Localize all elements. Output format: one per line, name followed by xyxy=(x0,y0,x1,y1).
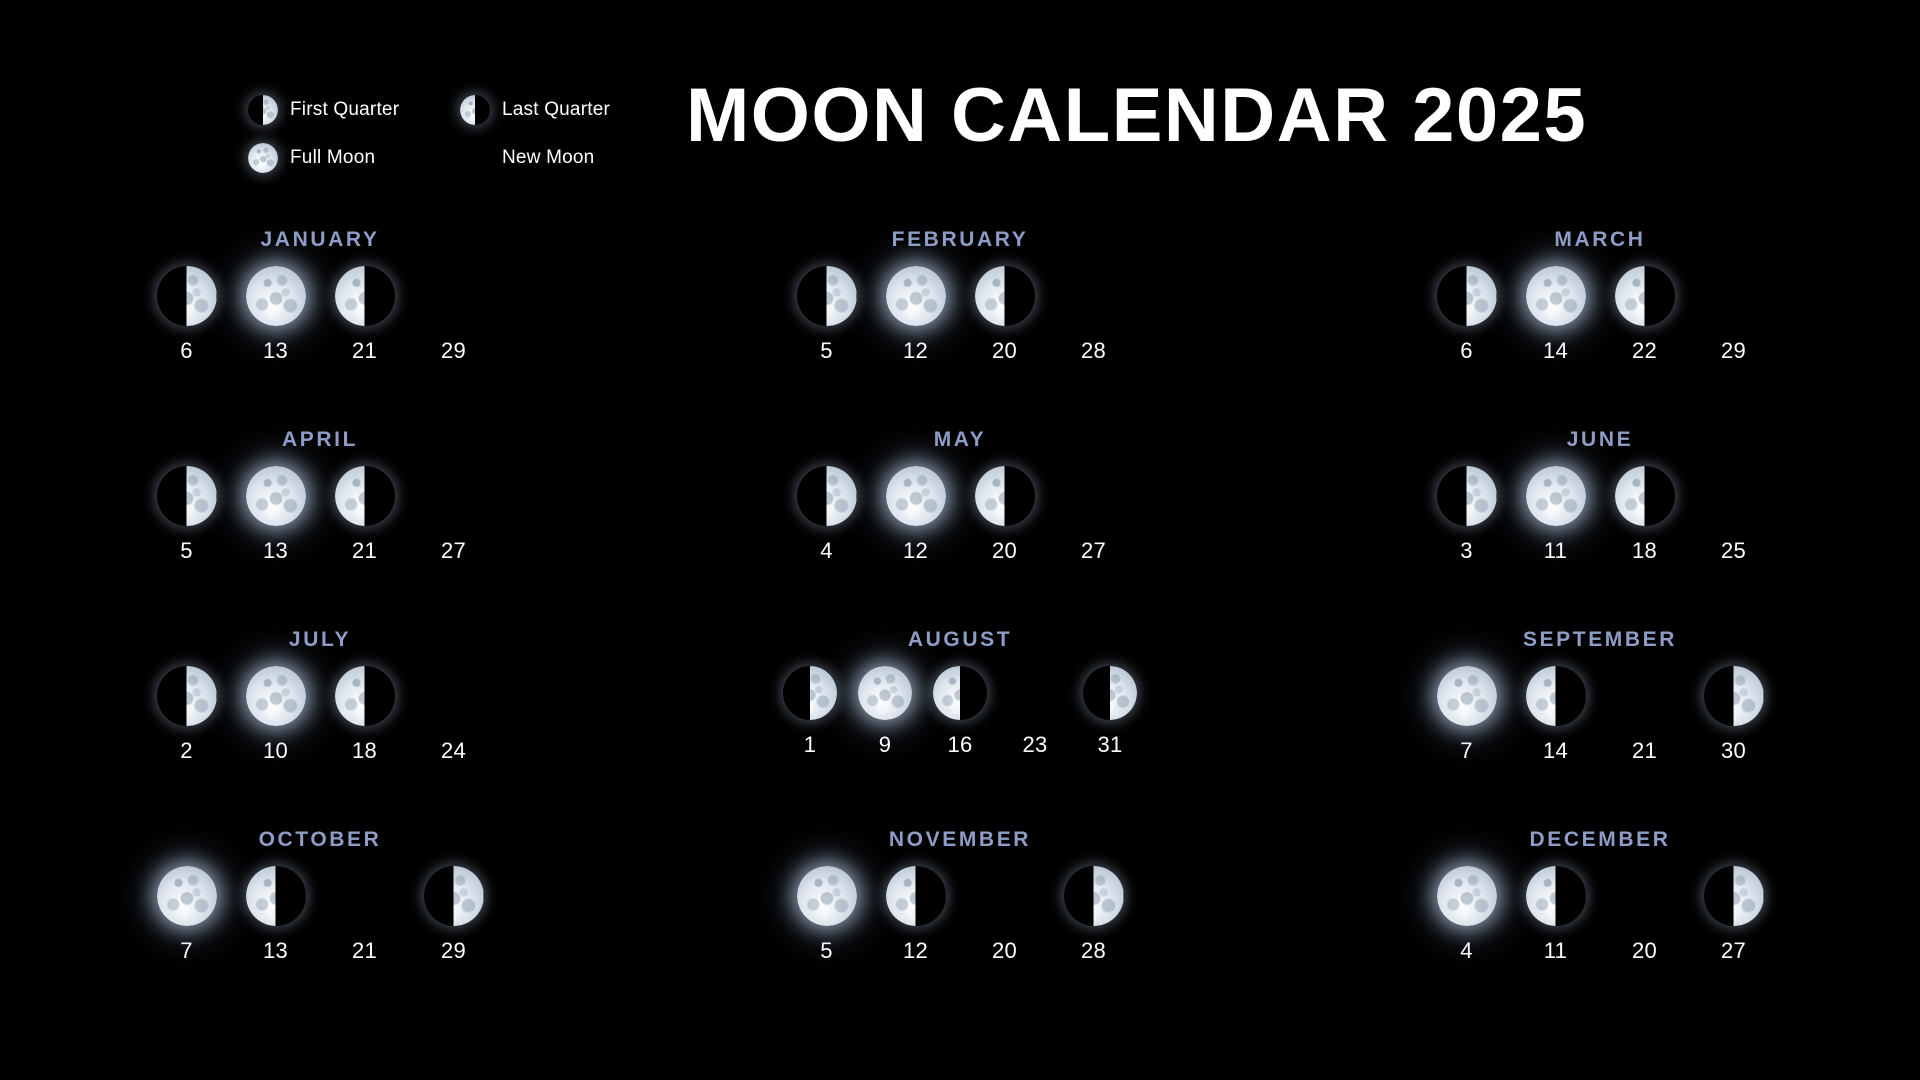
phase-entry[interactable]: 7 xyxy=(1437,666,1497,764)
legend-item-first-quarter: First Quarter xyxy=(248,95,448,125)
phase-row: 5122028 xyxy=(797,266,1124,364)
phase-legend: First QuarterLast QuarterFull MoonNew Mo… xyxy=(248,88,660,180)
full-moon-icon xyxy=(886,466,946,526)
month-block-june: JUNE3111825 xyxy=(1280,420,1920,620)
phase-entry[interactable]: 16 xyxy=(933,666,987,758)
phase-date: 29 xyxy=(441,938,466,964)
phase-entry[interactable]: 23 xyxy=(1008,666,1062,758)
moon-calendar-page: First QuarterLast QuarterFull MoonNew Mo… xyxy=(0,0,1920,1080)
first-quarter-moon-icon xyxy=(424,866,484,926)
phase-entry[interactable]: 14 xyxy=(1526,666,1586,764)
last-quarter-moon-icon xyxy=(1526,866,1586,926)
phase-date: 12 xyxy=(903,338,928,364)
phase-date: 13 xyxy=(263,338,288,364)
phase-date: 24 xyxy=(441,738,466,764)
month-block-october: OCTOBER7132129 xyxy=(0,820,640,1020)
phase-entry[interactable]: 12 xyxy=(886,266,946,364)
month-label: NOVEMBER xyxy=(889,828,1031,852)
phase-entry[interactable]: 20 xyxy=(975,466,1035,564)
phase-entry[interactable]: 12 xyxy=(886,466,946,564)
full-moon-icon xyxy=(246,266,306,326)
new-moon-icon xyxy=(424,266,484,326)
page-title: MOON CALENDAR 2025 xyxy=(686,78,1587,154)
last-quarter-moon-icon xyxy=(1615,266,1675,326)
phase-entry[interactable]: 1 xyxy=(783,666,837,758)
phase-date: 23 xyxy=(1022,732,1047,758)
phase-row: 6142229 xyxy=(1437,266,1764,364)
month-label: JUNE xyxy=(1567,428,1633,452)
phase-row: 5122028 xyxy=(797,866,1124,964)
phase-date: 20 xyxy=(992,338,1017,364)
phase-date: 11 xyxy=(1544,938,1567,964)
phase-entry[interactable]: 20 xyxy=(1615,866,1675,964)
new-moon-icon xyxy=(975,866,1035,926)
phase-date: 11 xyxy=(1544,538,1567,564)
phase-entry[interactable]: 13 xyxy=(246,866,306,964)
phase-row: 19162331 xyxy=(783,666,1137,758)
phase-date: 13 xyxy=(263,538,288,564)
full-moon-icon xyxy=(858,666,912,720)
first-quarter-moon-icon xyxy=(157,266,217,326)
phase-date: 5 xyxy=(180,538,193,564)
phase-date: 22 xyxy=(1632,338,1657,364)
phase-date: 4 xyxy=(1460,938,1473,964)
phase-date: 12 xyxy=(903,938,928,964)
first-quarter-moon-icon xyxy=(157,666,217,726)
phase-entry[interactable]: 24 xyxy=(424,666,484,764)
phase-entry[interactable]: 21 xyxy=(335,866,395,964)
phase-entry[interactable]: 28 xyxy=(1064,266,1124,364)
phase-date: 10 xyxy=(263,738,288,764)
legend-item-new: New Moon xyxy=(460,143,660,173)
phase-entry[interactable]: 31 xyxy=(1083,666,1137,758)
month-label: DECEMBER xyxy=(1530,828,1671,852)
phase-row: 3111825 xyxy=(1437,466,1764,564)
phase-entry[interactable]: 4 xyxy=(1437,866,1497,964)
last-quarter-moon-icon xyxy=(335,266,395,326)
new-moon-icon xyxy=(424,666,484,726)
phase-entry[interactable]: 7 xyxy=(157,866,217,964)
new-moon-icon xyxy=(1704,266,1764,326)
full-moon-icon xyxy=(246,466,306,526)
full-moon-icon xyxy=(246,666,306,726)
month-block-january: JANUARY6132129 xyxy=(0,220,640,420)
phase-entry[interactable]: 5 xyxy=(157,466,217,564)
month-label: JANUARY xyxy=(261,228,380,252)
first-quarter-moon-icon xyxy=(797,266,857,326)
legend-item-label: New Moon xyxy=(502,147,594,169)
phase-entry[interactable]: 27 xyxy=(1064,466,1124,564)
phase-entry[interactable]: 25 xyxy=(1704,466,1764,564)
phase-entry[interactable]: 29 xyxy=(1704,266,1764,364)
phase-entry[interactable]: 11 xyxy=(1526,866,1586,964)
phase-entry[interactable]: 9 xyxy=(858,666,912,758)
phase-date: 20 xyxy=(1632,938,1657,964)
month-block-april: APRIL5132127 xyxy=(0,420,640,620)
phase-date: 20 xyxy=(992,938,1017,964)
phase-date: 3 xyxy=(1460,538,1473,564)
phase-date: 20 xyxy=(992,538,1017,564)
phase-date: 27 xyxy=(1721,938,1746,964)
phase-date: 21 xyxy=(352,938,377,964)
phase-entry[interactable]: 10 xyxy=(246,666,306,764)
phase-row: 6132129 xyxy=(157,266,484,364)
full-moon-icon xyxy=(1437,666,1497,726)
new-moon-icon xyxy=(424,466,484,526)
new-moon-icon xyxy=(1615,866,1675,926)
phase-entry[interactable]: 21 xyxy=(335,266,395,364)
phase-entry[interactable]: 20 xyxy=(975,266,1035,364)
phase-date: 13 xyxy=(263,938,288,964)
phase-entry[interactable]: 13 xyxy=(246,466,306,564)
phase-entry[interactable]: 12 xyxy=(886,866,946,964)
last-quarter-moon-icon xyxy=(1615,466,1675,526)
month-label: FEBRUARY xyxy=(892,228,1029,252)
first-quarter-moon-icon xyxy=(797,466,857,526)
phase-entry[interactable]: 28 xyxy=(1064,866,1124,964)
phase-date: 29 xyxy=(441,338,466,364)
phase-entry[interactable]: 29 xyxy=(424,266,484,364)
first-quarter-moon-icon xyxy=(1437,466,1497,526)
phase-entry[interactable]: 5 xyxy=(797,866,857,964)
phase-entry[interactable]: 6 xyxy=(157,266,217,364)
new-moon-icon xyxy=(1615,666,1675,726)
phase-entry[interactable]: 30 xyxy=(1704,666,1764,764)
full-moon-icon xyxy=(248,143,278,173)
month-label: AUGUST xyxy=(908,628,1012,652)
first-quarter-moon-icon xyxy=(1704,866,1764,926)
new-moon-icon xyxy=(1064,466,1124,526)
phase-date: 27 xyxy=(1081,538,1106,564)
month-block-march: MARCH6142229 xyxy=(1280,220,1920,420)
full-moon-icon xyxy=(1526,266,1586,326)
month-label: MARCH xyxy=(1554,228,1645,252)
month-block-july: JULY2101824 xyxy=(0,620,640,820)
phase-date: 6 xyxy=(180,338,193,364)
last-quarter-moon-icon xyxy=(1526,666,1586,726)
full-moon-icon xyxy=(1526,466,1586,526)
phase-entry[interactable]: 29 xyxy=(424,866,484,964)
first-quarter-moon-icon xyxy=(248,95,278,125)
month-block-december: DECEMBER4112027 xyxy=(1280,820,1920,1020)
last-quarter-moon-icon xyxy=(246,866,306,926)
phase-entry[interactable]: 11 xyxy=(1526,466,1586,564)
month-label: APRIL xyxy=(282,428,358,452)
phase-entry[interactable]: 27 xyxy=(1704,866,1764,964)
first-quarter-moon-icon xyxy=(1064,866,1124,926)
month-block-august: AUGUST19162331 xyxy=(640,620,1280,820)
phase-entry[interactable]: 18 xyxy=(1615,466,1675,564)
phase-entry[interactable]: 3 xyxy=(1437,466,1497,564)
last-quarter-moon-icon xyxy=(975,466,1035,526)
legend-item-full: Full Moon xyxy=(248,143,448,173)
phase-entry[interactable]: 27 xyxy=(424,466,484,564)
phase-date: 16 xyxy=(947,732,972,758)
phase-date: 21 xyxy=(1632,738,1657,764)
phase-entry[interactable]: 13 xyxy=(246,266,306,364)
month-block-february: FEBRUARY5122028 xyxy=(640,220,1280,420)
new-moon-icon xyxy=(1064,266,1124,326)
legend-item-label: Last Quarter xyxy=(502,99,610,121)
phase-date: 14 xyxy=(1543,738,1568,764)
phase-entry[interactable]: 18 xyxy=(335,666,395,764)
phase-date: 21 xyxy=(352,338,377,364)
phase-date: 12 xyxy=(903,538,928,564)
new-moon-icon xyxy=(460,143,490,173)
first-quarter-moon-icon xyxy=(1704,666,1764,726)
new-moon-icon xyxy=(1704,466,1764,526)
phase-entry[interactable]: 21 xyxy=(1615,666,1675,764)
legend-item-label: Full Moon xyxy=(290,147,375,169)
first-quarter-moon-icon xyxy=(783,666,837,720)
full-moon-icon xyxy=(157,866,217,926)
phase-date: 7 xyxy=(180,938,193,964)
first-quarter-moon-icon xyxy=(157,466,217,526)
phase-date: 1 xyxy=(804,732,817,758)
phase-date: 28 xyxy=(1081,938,1106,964)
phase-entry[interactable]: 4 xyxy=(797,466,857,564)
phase-date: 9 xyxy=(879,732,892,758)
month-block-november: NOVEMBER5122028 xyxy=(640,820,1280,1020)
phase-entry[interactable]: 20 xyxy=(975,866,1035,964)
phase-date: 18 xyxy=(1632,538,1657,564)
phase-date: 14 xyxy=(1543,338,1568,364)
phase-date: 21 xyxy=(352,538,377,564)
phase-entry[interactable]: 21 xyxy=(335,466,395,564)
full-moon-icon xyxy=(886,266,946,326)
calendar-grid: JANUARY6132129FEBRUARY5122028MARCH614222… xyxy=(0,220,1920,1020)
phase-row: 4122027 xyxy=(797,466,1124,564)
month-label: MAY xyxy=(934,428,987,452)
last-quarter-moon-icon xyxy=(335,466,395,526)
full-moon-icon xyxy=(1437,866,1497,926)
phase-date: 28 xyxy=(1081,338,1106,364)
phase-row: 5132127 xyxy=(157,466,484,564)
phase-date: 5 xyxy=(820,338,833,364)
phase-date: 2 xyxy=(180,738,193,764)
phase-date: 6 xyxy=(1460,338,1473,364)
phase-date: 30 xyxy=(1721,738,1746,764)
last-quarter-moon-icon xyxy=(460,95,490,125)
last-quarter-moon-icon xyxy=(886,866,946,926)
phase-entry[interactable]: 14 xyxy=(1526,266,1586,364)
last-quarter-moon-icon xyxy=(933,666,987,720)
new-moon-icon xyxy=(335,866,395,926)
month-label: OCTOBER xyxy=(259,828,382,852)
phase-entry[interactable]: 5 xyxy=(797,266,857,364)
phase-row: 2101824 xyxy=(157,666,484,764)
legend-item-label: First Quarter xyxy=(290,99,399,121)
phase-date: 5 xyxy=(820,938,833,964)
phase-row: 4112027 xyxy=(1437,866,1764,964)
new-moon-icon xyxy=(1008,666,1062,720)
phase-row: 7142130 xyxy=(1437,666,1764,764)
phase-date: 25 xyxy=(1721,538,1746,564)
last-quarter-moon-icon xyxy=(975,266,1035,326)
phase-date: 4 xyxy=(820,538,833,564)
first-quarter-moon-icon xyxy=(1437,266,1497,326)
last-quarter-moon-icon xyxy=(335,666,395,726)
first-quarter-moon-icon xyxy=(1083,666,1137,720)
month-label: JULY xyxy=(289,628,351,652)
phase-date: 27 xyxy=(441,538,466,564)
phase-date: 31 xyxy=(1097,732,1122,758)
month-label: SEPTEMBER xyxy=(1523,628,1677,652)
month-block-may: MAY4122027 xyxy=(640,420,1280,620)
page-header: First QuarterLast QuarterFull MoonNew Mo… xyxy=(0,0,1920,210)
phase-entry[interactable]: 6 xyxy=(1437,266,1497,364)
phase-date: 7 xyxy=(1460,738,1473,764)
full-moon-icon xyxy=(797,866,857,926)
phase-entry[interactable]: 22 xyxy=(1615,266,1675,364)
phase-row: 7132129 xyxy=(157,866,484,964)
legend-item-last-quarter: Last Quarter xyxy=(460,95,660,125)
phase-date: 18 xyxy=(352,738,377,764)
phase-date: 29 xyxy=(1721,338,1746,364)
month-block-september: SEPTEMBER7142130 xyxy=(1280,620,1920,820)
phase-entry[interactable]: 2 xyxy=(157,666,217,764)
